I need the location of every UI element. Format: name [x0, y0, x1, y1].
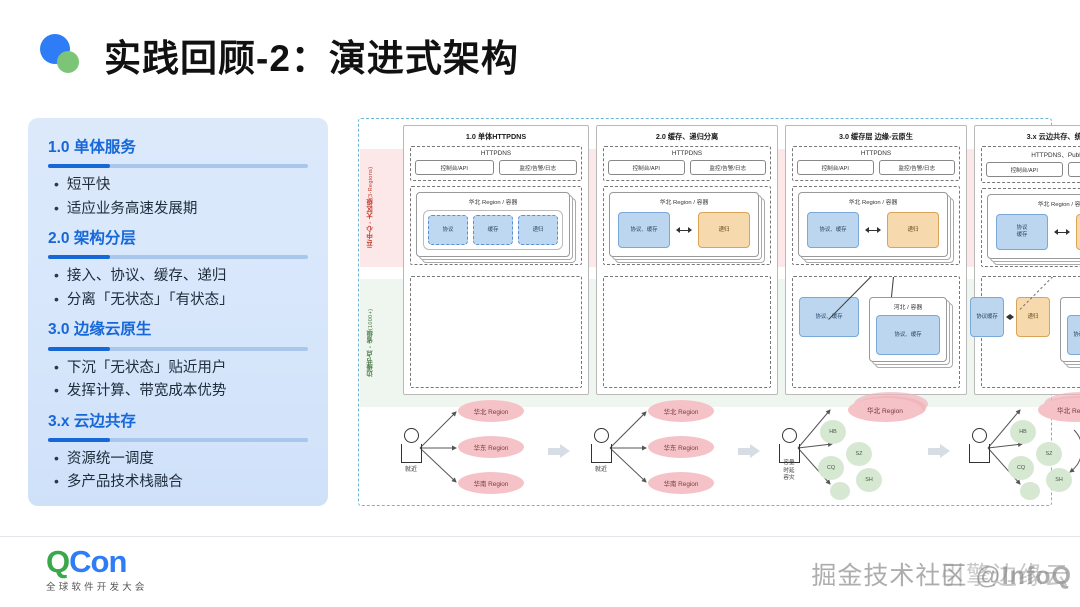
sidebar-section: 3.x 云边共存 •资源统一调度 •多产品技术栈融合 — [48, 406, 308, 495]
region-card-title: 华北 Region / 容器 — [994, 199, 1080, 208]
list-item-label: 资源统一调度 — [67, 448, 154, 471]
panel-4-cloud-edge-unified: 3.x 云边共存、统一调度 HTTPDNS、PublicDNS 控制台/API … — [974, 125, 1080, 395]
data-plane-zone: 华北 Region / 容器 协议、缓存 递归 — [603, 186, 771, 265]
bullet-icon: • — [54, 448, 59, 469]
section-divider — [48, 255, 308, 259]
edge-node-protocol-cache: 协议、缓存 — [799, 297, 859, 337]
bullet-icon: • — [54, 265, 59, 286]
edge-node-bubble: HB — [1010, 420, 1036, 444]
region-card-stack: 华北 Region / 容器 协议、缓存 递归 — [609, 192, 759, 257]
bidirectional-arrow-icon — [675, 225, 693, 235]
evolution-summary-panel: 1.0 单体服务 •短平快 •适应业务高速发展期 2.0 架构分层 •接入、协议… — [28, 118, 328, 506]
edge-node-protocol-cache: 协议缓存 — [970, 297, 1004, 337]
list-item-label: 多产品技术栈融合 — [67, 471, 183, 494]
sidebar-section: 2.0 架构分层 •接入、协议、缓存、递归 •分离「无状态」「有状态」 — [48, 223, 308, 312]
monitoring-chip: 监控/告警/日志 — [690, 160, 767, 175]
footer-divider — [0, 536, 1080, 537]
user-avatar-icon — [966, 428, 992, 462]
list-item: •下沉「无状态」贴近用户 — [48, 357, 308, 380]
region-card-title: 华北 Region / 容器 — [616, 197, 752, 206]
list-item-label: 接入、协议、缓存、递归 — [67, 265, 227, 288]
region-card: 华北 Region / 容器 协议、缓存 递归 — [609, 192, 759, 257]
edge-node-protocol-cache: 协议、缓存 — [876, 315, 940, 355]
edge-node-bubble: SZ — [846, 442, 872, 466]
edge-node-bubble — [1020, 482, 1040, 500]
panel-title: 3.0 缓存层 边缘-云原生 — [786, 126, 966, 146]
section-divider — [48, 438, 308, 442]
qcon-logo-con: Con — [69, 544, 126, 579]
flow-stage-1: 就近 华北 Region 华东 Region 华南 Region — [390, 386, 540, 506]
bidirectional-arrow-icon — [864, 225, 882, 235]
bidirectional-arrow-icon — [1005, 312, 1015, 322]
monitoring-chip: 监控/告警/日志 — [879, 160, 956, 175]
service-name-label: HTTPDNS — [608, 150, 766, 157]
bullet-icon: • — [54, 198, 59, 219]
flow-stage-2: 就近 华北 Region 华东 Region 华南 Region — [580, 386, 730, 506]
region-card: 华北 Region / 容器 协议、缓存 递归 — [798, 192, 948, 257]
qcon-logo: QCon 全球软件开发大会 — [46, 546, 148, 593]
edge-node-bubble: SH — [1046, 468, 1072, 492]
panel-2-cache-split: 2.0 缓存、递归分离 HTTPDNS 控制台/API 监控/告警/日志 华北 … — [596, 125, 778, 395]
routing-policy-label: 就近 — [392, 464, 430, 473]
edge-zone — [603, 276, 771, 388]
panel-columns: 1.0 单体HTTPDNS HTTPDNS 控制台/API 监控/告警/日志 华… — [403, 125, 1007, 395]
stage-transition-arrow-icon — [548, 444, 570, 458]
bidirectional-arrow-icon — [1053, 227, 1071, 237]
service-node-protocol-cache: 协议、缓存 — [618, 212, 670, 248]
brand-dots-icon — [40, 32, 86, 78]
monitoring-chip: 监控/告警/日志 — [499, 160, 578, 175]
control-plane-box: HTTPDNS 控制台/API 监控/告警/日志 — [792, 146, 960, 181]
edge-node-bubble — [830, 482, 850, 500]
edge-node-bubble: CQ — [1008, 456, 1034, 480]
band-label-edge: 边缘节点 - 省级(1000+) — [367, 289, 375, 397]
control-plane-box: HTTPDNS、PublicDNS 控制台/API 监控/告警/日志 — [981, 146, 1080, 183]
console-api-chip: 控制台/API — [986, 162, 1063, 177]
panel-title: 2.0 缓存、递归分离 — [597, 126, 777, 146]
bullet-icon: • — [54, 380, 59, 401]
section-divider — [48, 347, 308, 351]
service-node-recursive: 递归 — [1076, 214, 1080, 250]
slide-header: 实践回顾-2：演进式架构 — [40, 28, 519, 82]
edge-card: 河北 / 容器 协议缓存 递归 — [1060, 297, 1080, 362]
qcon-logo-subtitle: 全球软件开发大会 — [46, 579, 148, 593]
panel-1-monolith: 1.0 单体HTTPDNS HTTPDNS 控制台/API 监控/告警/日志 华… — [403, 125, 589, 395]
data-plane-zone: 华北 Region / 容器 协议 缓存 递归 — [410, 186, 582, 265]
list-item: •分离「无状态」「有状态」 — [48, 289, 308, 312]
control-plane-box: HTTPDNS 控制台/API 监控/告警/日志 — [410, 146, 582, 181]
list-item: •资源统一调度 — [48, 448, 308, 471]
list-item-label: 发挥计算、带宽成本优势 — [67, 380, 227, 403]
region-bubble: 华东 Region — [648, 436, 714, 458]
edge-card-title: 河北 / 容器 — [1067, 302, 1080, 311]
panel-title: 3.x 云边共存、统一调度 — [975, 126, 1080, 146]
edge-node-protocol-cache: 协议缓存 — [1067, 315, 1080, 355]
region-card-stack: 华北 Region / 容器 协议 缓存 递归 — [987, 194, 1080, 259]
sidebar-section-heading: 1.0 单体服务 — [48, 132, 308, 159]
edge-zone: 协议、缓存 河北 / 容器 协议、缓存 — [792, 276, 960, 388]
region-card-stack: 华北 Region / 容器 协议、缓存 递归 — [798, 192, 948, 257]
bullet-icon: • — [54, 471, 59, 492]
bullet-icon: • — [54, 357, 59, 378]
console-api-chip: 控制台/API — [415, 160, 494, 175]
stage-transition-arrow-icon — [928, 444, 950, 458]
region-bubble: 华北 Region — [458, 400, 524, 422]
list-item: •适应业务高速发展期 — [48, 198, 308, 221]
edge-node-bubble: CQ — [818, 456, 844, 480]
region-bubble: 华南 Region — [648, 472, 714, 494]
data-plane-zone: 华北 Region / 容器 协议、缓存 递归 — [792, 186, 960, 265]
service-name-label: HTTPDNS — [797, 150, 955, 157]
monitoring-chip: 监控/告警/日志 — [1068, 162, 1080, 177]
band-label-cloud: 云/中心 - 大区级(3-Regions) — [367, 153, 375, 261]
stage-transition-arrow-icon — [738, 444, 760, 458]
list-item-label: 短平快 — [67, 174, 111, 197]
user-avatar-icon — [588, 428, 614, 462]
edge-zone: 协议缓存 递归 河北 / 容器 协议缓存 递归 — [981, 276, 1080, 388]
sidebar-section: 3.0 边缘云原生 •下沉「无状态」贴近用户 •发挥计算、带宽成本优势 — [48, 314, 308, 403]
watermark: 掘金技术社区 @InfoQ — [811, 556, 1072, 592]
region-card-title: 华北 Region / 容器 — [423, 197, 563, 206]
service-name-label: HTTPDNS、PublicDNS — [986, 150, 1080, 159]
edge-card-stack: 河北 / 容器 协议缓存 递归 — [1060, 297, 1080, 362]
list-item-label: 分离「无状态」「有状态」 — [67, 289, 234, 312]
user-avatar-icon — [776, 428, 802, 462]
sidebar-section: 1.0 单体服务 •短平快 •适应业务高速发展期 — [48, 132, 308, 221]
sidebar-section-heading: 2.0 架构分层 — [48, 223, 308, 250]
list-item-label: 下沉「无状态」贴近用户 — [67, 357, 227, 380]
region-card-stack: 华北 Region / 容器 协议 缓存 递归 — [416, 192, 570, 257]
bullet-icon: • — [54, 174, 59, 195]
service-node-recursive: 递归 — [518, 215, 558, 245]
page-title: 实践回顾-2：演进式架构 — [104, 28, 519, 82]
flow-stage-4: 华北 Region HB SZ CQ SH — [958, 386, 1080, 506]
list-item: •发挥计算、带宽成本优势 — [48, 380, 308, 403]
sidebar-section-heading: 3.x 云边共存 — [48, 406, 308, 433]
list-item: •多产品技术栈融合 — [48, 471, 308, 494]
panel-title: 1.0 单体HTTPDNS — [404, 126, 588, 146]
control-plane-box: HTTPDNS 控制台/API 监控/告警/日志 — [603, 146, 771, 181]
edge-card-stack: 河北 / 容器 协议、缓存 — [869, 297, 947, 362]
flow-stage-3: 容量 时延 容灾 华北 Region HB SZ CQ SH — [768, 386, 934, 506]
edge-card: 河北 / 容器 协议、缓存 — [869, 297, 947, 362]
panel-3-edge-native: 3.0 缓存层 边缘-云原生 HTTPDNS 控制台/API 监控/告警/日志 … — [785, 125, 967, 395]
region-card: 华北 Region / 容器 协议 缓存 递归 — [416, 192, 570, 257]
console-api-chip: 控制台/API — [797, 160, 874, 175]
edge-node-bubble: HB — [820, 420, 846, 444]
edge-zone — [410, 276, 582, 388]
edge-node-recursive: 递归 — [1016, 297, 1050, 337]
qcon-logo-q: Q — [46, 544, 69, 579]
service-node-protocol: 协议 — [428, 215, 468, 245]
routing-policy-label: 就近 — [582, 464, 620, 473]
edge-node-pair: 协议缓存 递归 — [970, 297, 1050, 337]
service-node-protocol-cache: 协议 缓存 — [996, 214, 1048, 250]
traffic-routing-flow: 就近 华北 Region 华东 Region 华南 Region 就近 华北 R… — [372, 386, 1040, 506]
edge-card-title: 河北 / 容器 — [876, 302, 940, 311]
user-avatar-icon — [398, 428, 424, 462]
watermark-prefix: 掘金技术社区 @ — [811, 562, 1001, 590]
region-bubble: 华北 Region — [648, 400, 714, 422]
service-node-recursive: 递归 — [887, 212, 939, 248]
section-divider — [48, 164, 308, 168]
edge-node-bubble: SZ — [1036, 442, 1062, 466]
routing-policy-label: 容量 时延 容灾 — [770, 460, 808, 483]
edge-node-bubble: SH — [856, 468, 882, 492]
bullet-icon: • — [54, 289, 59, 310]
list-item: •接入、协议、缓存、递归 — [48, 265, 308, 288]
region-bubble: 华东 Region — [458, 436, 524, 458]
region-card-title: 华北 Region / 容器 — [805, 197, 941, 206]
service-node-recursive: 递归 — [698, 212, 750, 248]
list-item-label: 适应业务高速发展期 — [67, 198, 198, 221]
console-api-chip: 控制台/API — [608, 160, 685, 175]
sidebar-section-heading: 3.0 边缘云原生 — [48, 314, 308, 341]
region-bubble: 华北 Region — [848, 398, 922, 422]
data-plane-zone: 华北 Region / 容器 协议 缓存 递归 — [981, 188, 1080, 267]
region-card: 华北 Region / 容器 协议 缓存 递归 — [987, 194, 1080, 259]
service-node-cache: 缓存 — [473, 215, 513, 245]
list-item: •短平快 — [48, 174, 308, 197]
service-node-protocol-cache: 协议、缓存 — [807, 212, 859, 248]
region-bubble: 华南 Region — [458, 472, 524, 494]
slide-root: 实践回顾-2：演进式架构 1.0 单体服务 •短平快 •适应业务高速发展期 2.… — [0, 0, 1080, 607]
service-name-label: HTTPDNS — [415, 150, 577, 157]
watermark-infoq: InfoQ — [1002, 562, 1072, 590]
